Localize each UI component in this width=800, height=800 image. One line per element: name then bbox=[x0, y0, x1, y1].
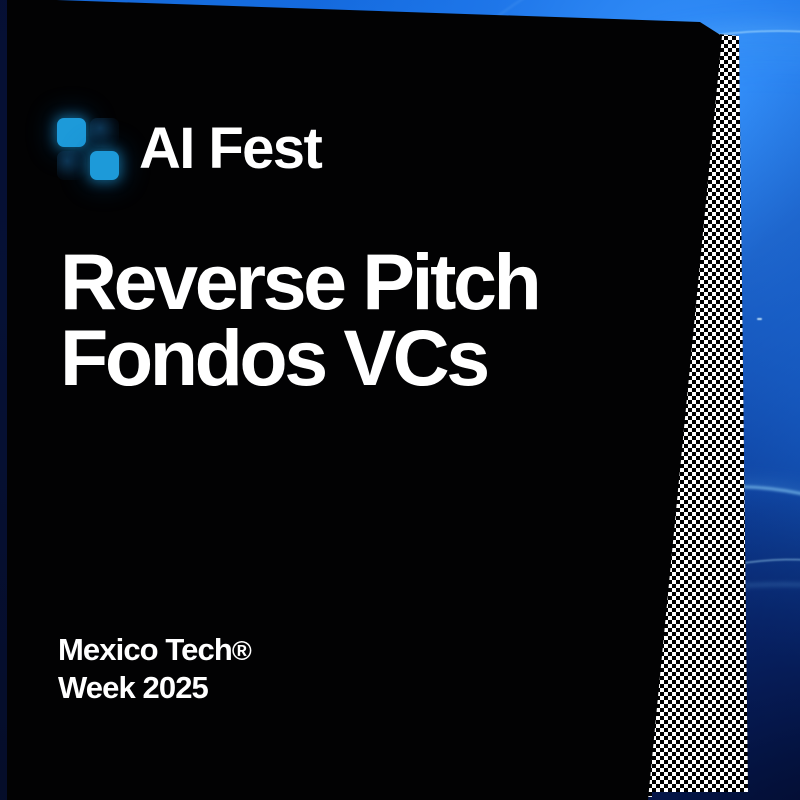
logo-tile-top-left-icon bbox=[57, 118, 86, 147]
event-name-line-1: Mexico Tech® bbox=[58, 631, 251, 669]
ai-fest-grid-logo-icon bbox=[57, 118, 119, 180]
headline-line-2: Fondos VCs bbox=[60, 320, 538, 396]
headline: Reverse Pitch Fondos VCs bbox=[60, 244, 538, 396]
brand-wordmark: AI Fest bbox=[139, 120, 321, 178]
poster-content: AI Fest Reverse Pitch Fondos VCs Mexico … bbox=[0, 0, 800, 800]
event-name-text: Mexico Tech bbox=[58, 632, 232, 667]
event-name-line-2: Week 2025 bbox=[58, 669, 251, 707]
logo-tile-bottom-right-icon bbox=[90, 151, 119, 180]
headline-line-1: Reverse Pitch bbox=[60, 244, 538, 320]
poster-canvas: AI Fest Reverse Pitch Fondos VCs Mexico … bbox=[0, 0, 800, 800]
event-name: Mexico Tech® Week 2025 bbox=[58, 631, 251, 707]
registered-trademark-icon: ® bbox=[232, 636, 251, 666]
logo-tile-top-right-icon bbox=[90, 118, 119, 147]
brand-lockup: AI Fest bbox=[57, 118, 321, 180]
logo-tile-bottom-left-icon bbox=[57, 151, 86, 180]
